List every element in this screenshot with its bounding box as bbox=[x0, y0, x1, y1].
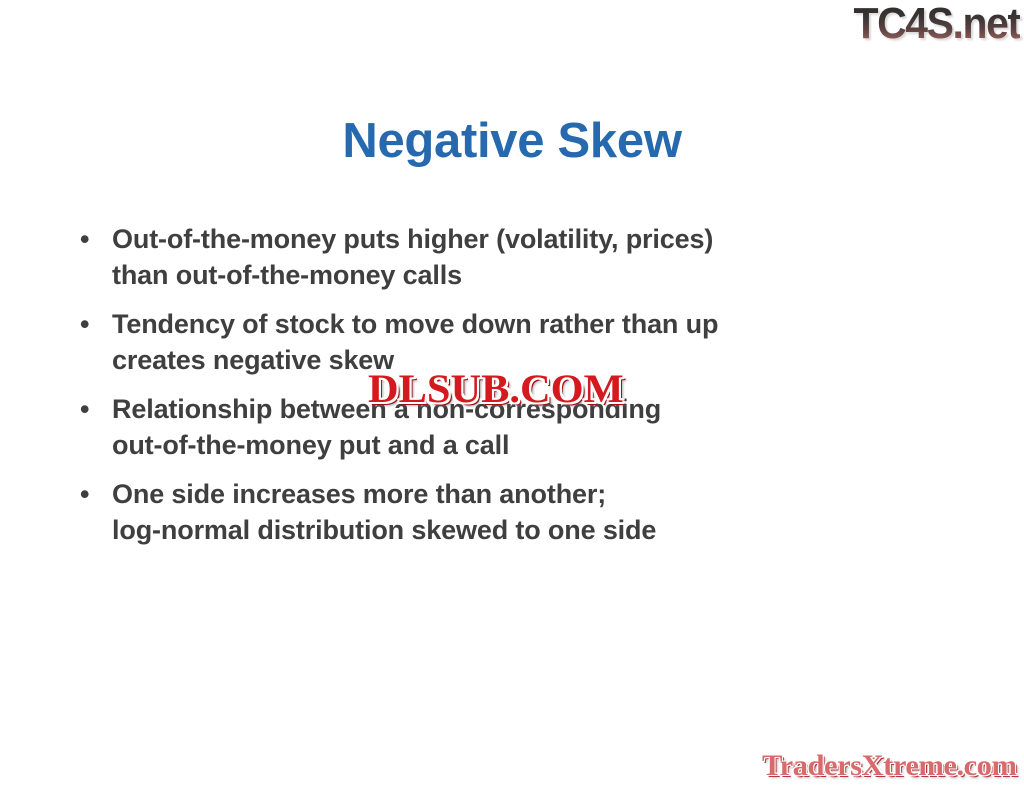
list-item: • One side increases more than another; … bbox=[68, 476, 974, 548]
list-item-line-1: Out-of-the-money puts higher (volatility… bbox=[112, 224, 713, 254]
list-item-text: One side increases more than another; lo… bbox=[112, 476, 974, 548]
list-item: • Out-of-the-money puts higher (volatili… bbox=[68, 221, 974, 293]
slide-canvas: TC4S.net TC4S.net Negative Skew • Out-of… bbox=[0, 0, 1024, 791]
list-item-line-1: One side increases more than another; bbox=[112, 479, 606, 509]
bullet-marker-icon: • bbox=[80, 391, 89, 427]
watermark-dlsub: DLSUB.COM bbox=[368, 368, 624, 410]
page-title: Negative Skew bbox=[0, 112, 1024, 170]
list-item-text: Out-of-the-money puts higher (volatility… bbox=[112, 221, 974, 293]
bullet-marker-icon: • bbox=[80, 221, 89, 257]
list-item-line-1: Tendency of stock to move down rather th… bbox=[112, 309, 718, 339]
brand-logo-tc4s: TC4S.net bbox=[854, 2, 1020, 46]
bullet-marker-icon: • bbox=[80, 306, 89, 342]
list-item-line-2: out-of-the-money put and a call bbox=[112, 427, 974, 463]
bullet-marker-icon: • bbox=[80, 476, 89, 512]
footer-logo-tradersxtreme: TradersXtreme.com bbox=[762, 749, 1016, 783]
list-item-line-2: than out-of-the-money calls bbox=[112, 257, 974, 293]
list-item-line-2: log-normal distribution skewed to one si… bbox=[112, 512, 974, 548]
